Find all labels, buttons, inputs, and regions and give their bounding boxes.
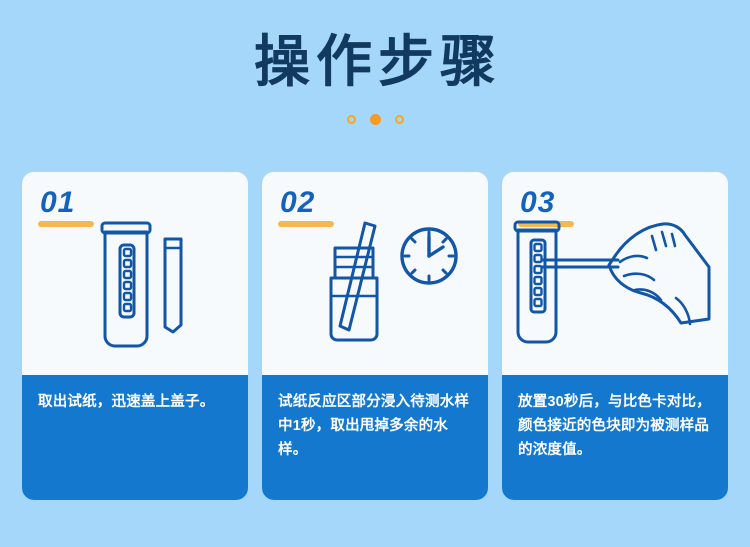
- step-1-caption: 取出试纸，迅速盖上盖子。: [38, 391, 232, 415]
- step-card-1[interactable]: 01: [22, 172, 248, 500]
- step-3-illustration: [502, 210, 728, 375]
- clock-icon: [402, 229, 456, 283]
- color-chart-bottle-icon: [515, 222, 559, 342]
- page-header: 操作步骤: [0, 0, 750, 126]
- step-card-2-footer: 试纸反应区部分浸入待测水样中1秒，取出甩掉多余的水样。: [262, 375, 488, 500]
- sample-bottle-icon: [331, 223, 377, 340]
- step-card-1-illustration-area: 01: [22, 172, 248, 375]
- dot-1[interactable]: [347, 115, 356, 124]
- step-card-2-illustration-area: 02: [262, 172, 488, 375]
- step-card-3-footer: 放置30秒后，与比色卡对比，颜色接近的色块即为被测样品的浓度值。: [502, 375, 728, 500]
- step-card-2[interactable]: 02: [262, 172, 488, 500]
- hand-holding-strip-icon: [542, 224, 709, 324]
- step-indicator-dots: [0, 112, 750, 126]
- step-3-caption: 放置30秒后，与比色卡对比，颜色接近的色块即为被测样品的浓度值。: [518, 391, 712, 463]
- step-2-illustration: [262, 210, 488, 375]
- dot-2[interactable]: [370, 114, 381, 125]
- steps-container: 01: [0, 172, 750, 500]
- page-title: 操作步骤: [0, 34, 750, 90]
- dot-3[interactable]: [395, 115, 404, 124]
- strip-bottle-icon: [102, 223, 150, 346]
- step-2-caption: 试纸反应区部分浸入待测水样中1秒，取出甩掉多余的水样。: [278, 391, 472, 463]
- step-1-illustration: [22, 210, 248, 375]
- step-card-1-footer: 取出试纸，迅速盖上盖子。: [22, 375, 248, 500]
- test-strip-icon: [165, 239, 181, 332]
- step-card-3[interactable]: 03: [502, 172, 728, 500]
- step-card-3-illustration-area: 03: [502, 172, 728, 375]
